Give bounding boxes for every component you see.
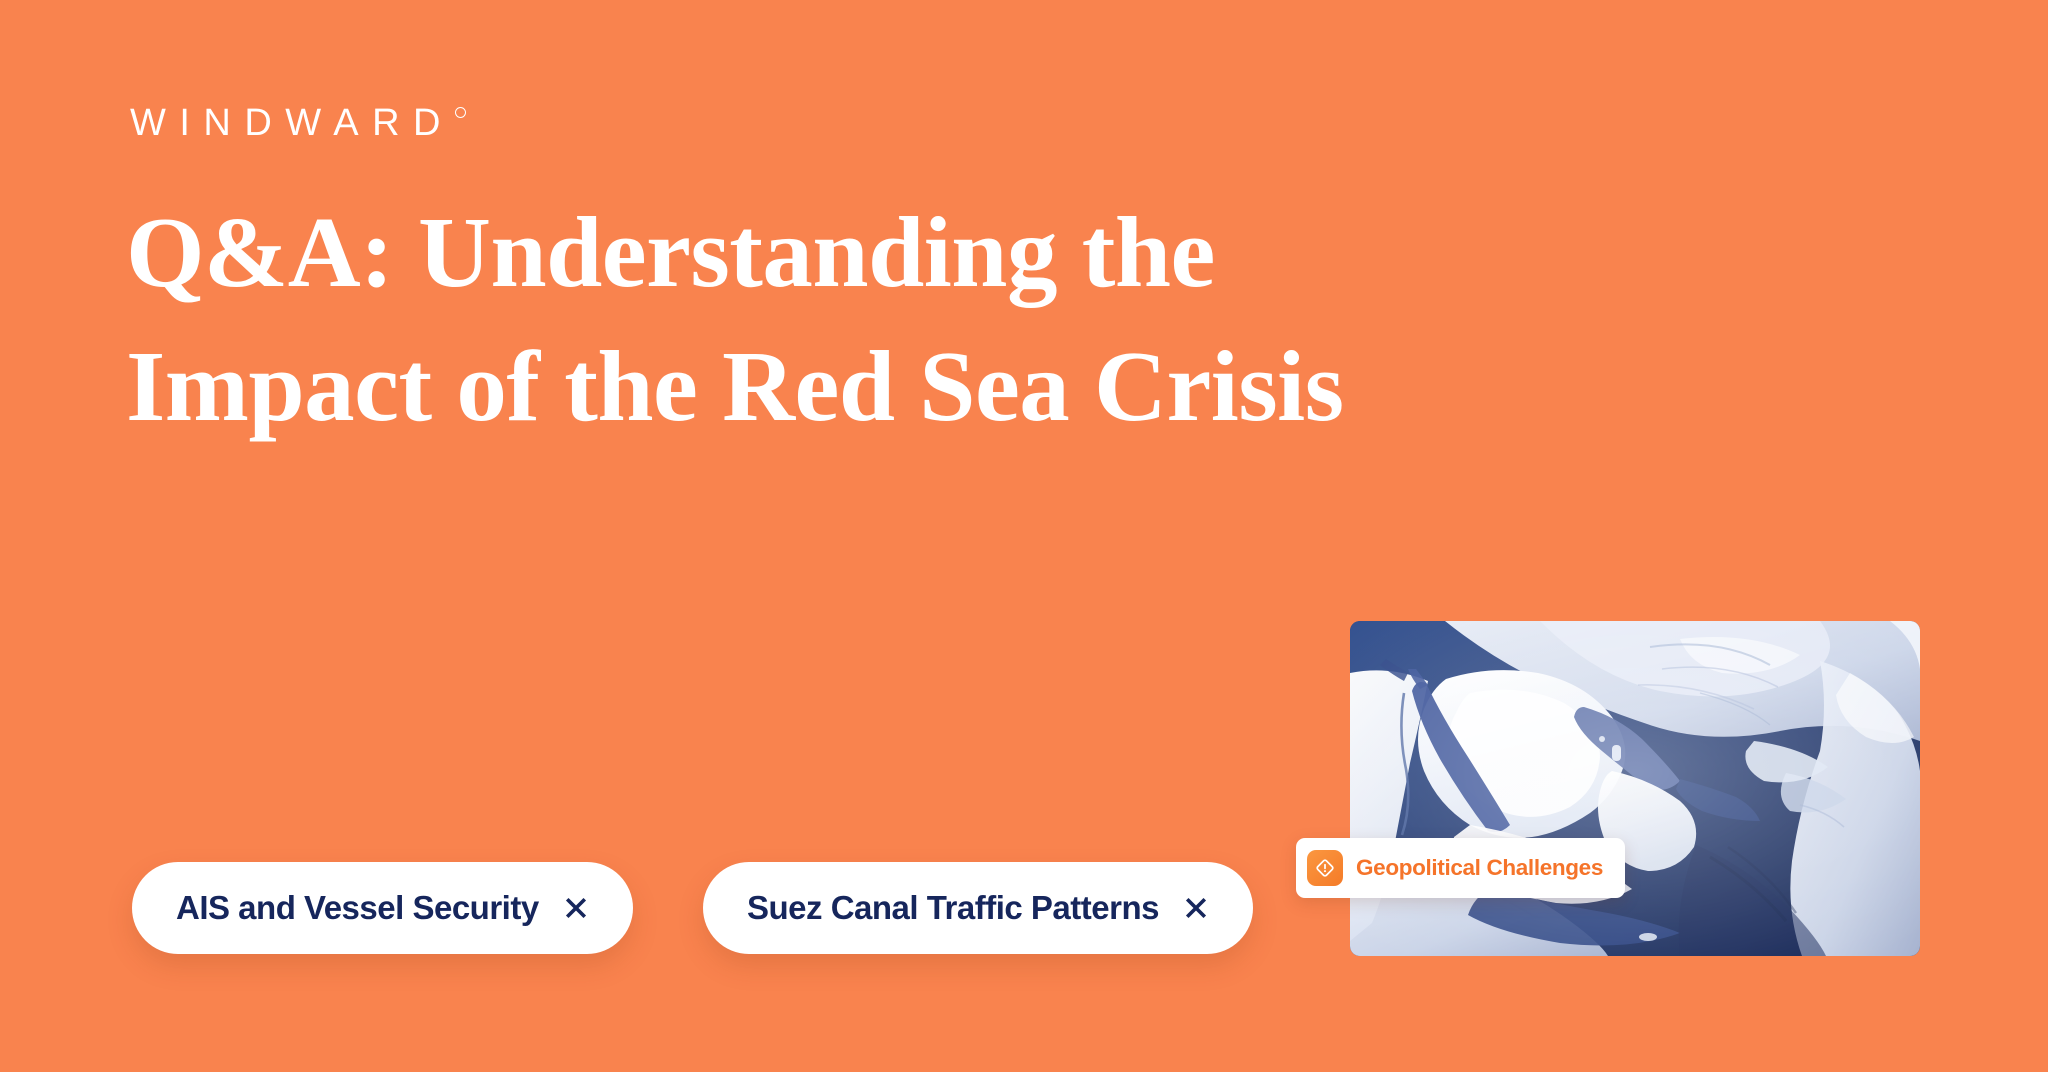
topic-pill-suez-canal-traffic-patterns[interactable]: Suez Canal Traffic Patterns: [703, 862, 1253, 954]
hero-banner: WINDWARD Q&A: Understanding the Impact o…: [0, 0, 2048, 1072]
close-icon[interactable]: [1183, 895, 1209, 921]
windward-logo[interactable]: WINDWARD: [130, 104, 466, 142]
map-thumbnail[interactable]: [1350, 621, 1920, 956]
status-badge-label: Geopolitical Challenges: [1356, 855, 1603, 881]
headline-line-1: Q&A: Understanding the: [126, 185, 1626, 319]
alert-diamond-icon: [1307, 850, 1343, 886]
topic-pill-ais-and-vessel-security[interactable]: AIS and Vessel Security: [132, 862, 633, 954]
page-title: Q&A: Understanding the Impact of the Red…: [126, 185, 1626, 453]
middle-east-relief-map: [1350, 621, 1920, 956]
status-badge[interactable]: Geopolitical Challenges: [1296, 838, 1625, 898]
degree-icon: [455, 107, 466, 118]
topic-pill-label: AIS and Vessel Security: [176, 889, 539, 927]
brand-wordmark: WINDWARD: [130, 104, 454, 142]
headline-line-2: Impact of the Red Sea Crisis: [126, 319, 1626, 453]
close-icon[interactable]: [563, 895, 589, 921]
topic-pill-label: Suez Canal Traffic Patterns: [747, 889, 1159, 927]
